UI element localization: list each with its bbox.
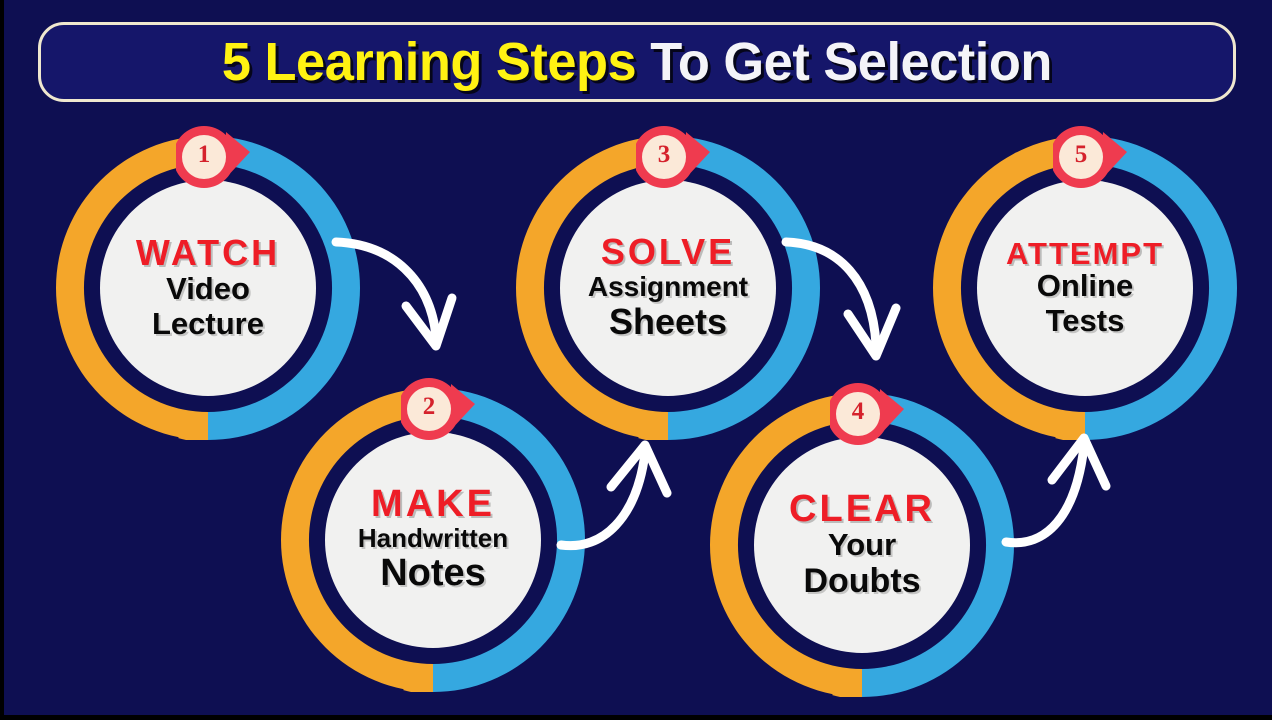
step-node-3[interactable]: SOLVE Assignment Sheets 3 [528, 148, 808, 428]
title-highlight: 5 Learning Steps [222, 32, 650, 92]
step-number: 2 [401, 376, 457, 438]
step-heading: ATTEMPT [1006, 238, 1164, 270]
step-content-5: ATTEMPT Online Tests [977, 180, 1193, 396]
step-number: 4 [830, 381, 886, 443]
title-rest: To Get Selection [650, 32, 1052, 92]
step-badge-4: 4 [830, 381, 894, 445]
infographic-canvas: 5 Learning Steps To Get Selection WATCH … [0, 0, 1280, 720]
title-banner: 5 Learning Steps To Get Selection [38, 22, 1236, 102]
step-number: 1 [176, 124, 232, 186]
frame-edge-bottom [0, 715, 1280, 720]
step-badge-2: 2 [401, 376, 465, 440]
step-heading: SOLVE [601, 234, 735, 271]
step-content-1: WATCH Video Lecture [100, 180, 316, 396]
frame-edge-left [0, 0, 4, 720]
step-heading: MAKE [371, 485, 495, 524]
step-number: 5 [1053, 124, 1109, 186]
step-content-3: SOLVE Assignment Sheets [560, 180, 776, 396]
step-line-1: Assignment [588, 271, 748, 302]
step-node-5[interactable]: ATTEMPT Online Tests 5 [945, 148, 1225, 428]
connector-arrow-4-to-5 [1000, 430, 1130, 560]
step-content-2: MAKE Handwritten Notes [325, 432, 541, 648]
step-node-1[interactable]: WATCH Video Lecture 1 [68, 148, 348, 428]
step-line-2: Notes [380, 553, 486, 595]
step-line-2: Tests [1046, 304, 1125, 338]
step-badge-1: 1 [176, 124, 240, 188]
frame-edge-right [1272, 0, 1280, 720]
step-line-2: Doubts [803, 563, 920, 600]
step-heading: WATCH [136, 235, 280, 272]
page-title: 5 Learning Steps To Get Selection [222, 31, 1052, 93]
step-line-1: Handwritten [358, 524, 508, 553]
step-content-4: CLEAR Your Doubts [754, 437, 970, 653]
step-heading: CLEAR [789, 490, 935, 529]
step-badge-3: 3 [636, 124, 700, 188]
step-line-1: Video [166, 272, 250, 307]
step-number: 3 [636, 124, 692, 186]
step-badge-5: 5 [1053, 124, 1117, 188]
step-line-1: Online [1037, 269, 1133, 304]
step-line-1: Your [828, 528, 896, 563]
step-line-2: Lecture [152, 307, 264, 341]
step-line-2: Sheets [609, 302, 727, 342]
